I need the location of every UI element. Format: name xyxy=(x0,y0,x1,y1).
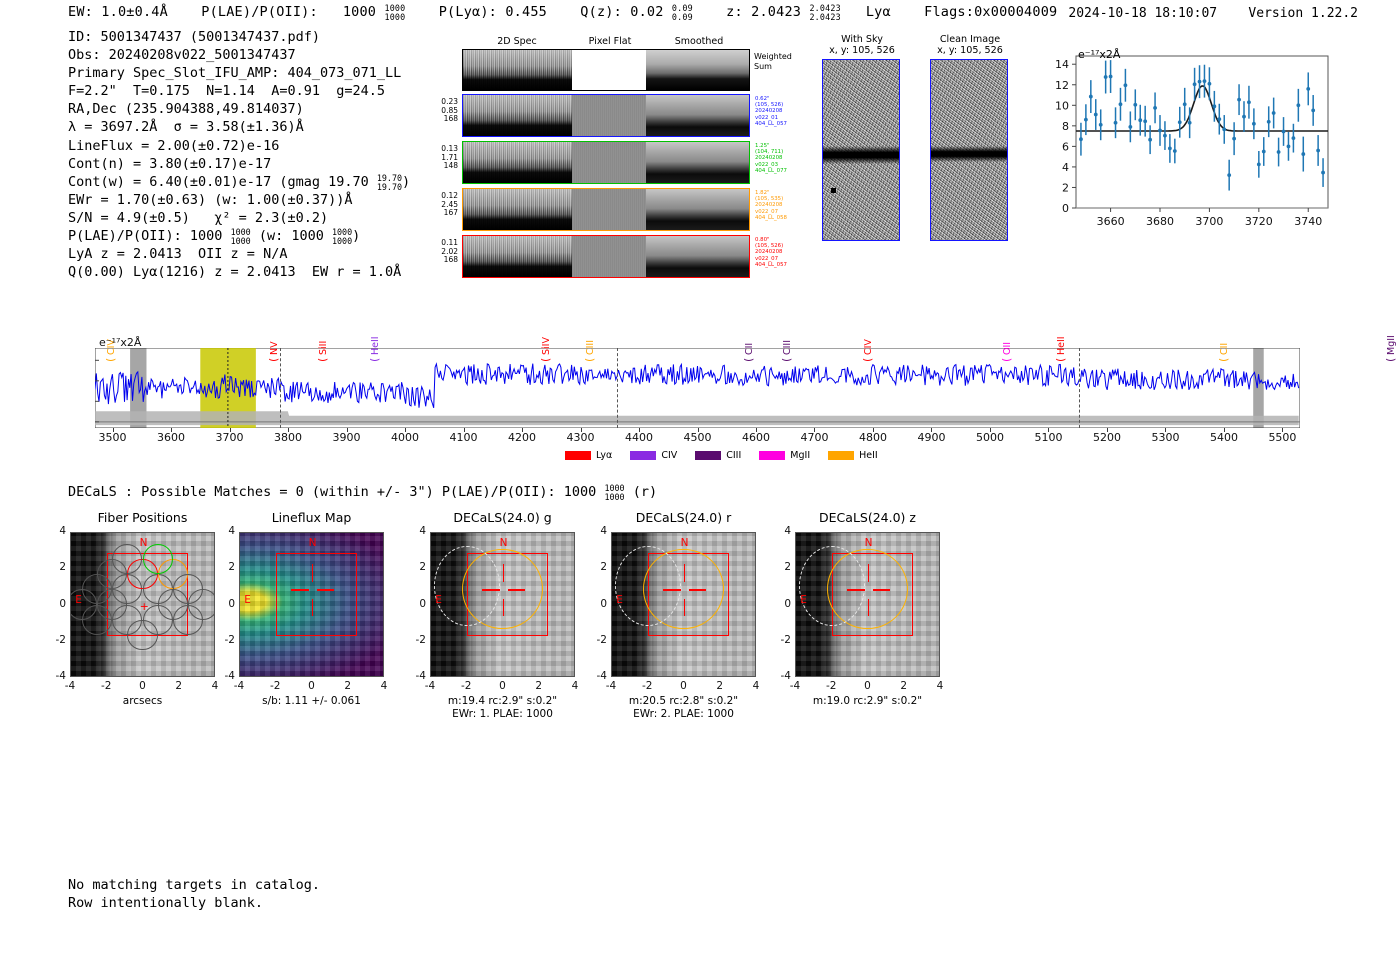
spectrum-x-tick: 5200 xyxy=(1089,431,1125,444)
emission-line-bracket: ( xyxy=(1384,358,1397,362)
cutout-with-sky: With Sky x, y: 105, 526 xyxy=(822,34,902,241)
svg-text:3740: 3740 xyxy=(1294,215,1322,228)
cutout-clean-image: Clean Image x, y: 105, 526 xyxy=(930,34,1010,241)
svg-text:0: 0 xyxy=(1062,202,1069,215)
spectrum-x-tickmark xyxy=(288,428,289,432)
cutout-x-tick: 2 xyxy=(166,680,192,692)
cutout-x-tick: 0 xyxy=(130,680,156,692)
spectrum-x-tick: 3900 xyxy=(329,431,365,444)
legend-swatch xyxy=(828,451,854,460)
cutout-x-tick: 0 xyxy=(490,680,516,692)
fiber-smoothed xyxy=(646,95,749,136)
center-crosshair-v xyxy=(503,564,504,581)
legend-label: CIV xyxy=(661,450,677,461)
spectrum-x-tick: 4900 xyxy=(913,431,949,444)
header-z-type: Lyα xyxy=(866,4,891,20)
spectrum-x-tick: 4300 xyxy=(563,431,599,444)
cutout-title: DECaLS(24.0) r xyxy=(611,510,756,525)
fiber-2dspec xyxy=(463,142,572,183)
header-redshift: z: 2.0423 xyxy=(726,4,801,20)
spectrum-legend: LyαCIVCIIIMgIIHeII xyxy=(565,450,878,461)
compass-north: N xyxy=(865,537,873,549)
spectrum-x-tickmark xyxy=(756,428,757,432)
compass-east: E xyxy=(244,594,251,606)
cutout-title: DECaLS(24.0) g xyxy=(430,510,575,525)
spec2d-title-smoothed: Smoothed xyxy=(648,36,750,47)
fiber-2dspec xyxy=(463,95,572,136)
svg-text:6: 6 xyxy=(1062,140,1069,153)
cutout-y-tick: 0 xyxy=(408,598,426,610)
cutout-y-tick: 0 xyxy=(217,598,235,610)
cutout-y-tick: 0 xyxy=(589,598,607,610)
cutout-x-tick: 4 xyxy=(743,680,769,692)
clean-image-coords: x, y: 105, 526 xyxy=(930,45,1010,56)
spectrum-x-tickmark xyxy=(990,428,991,432)
cutout-y-tick: -4 xyxy=(773,670,791,682)
spectrum-x-tick: 4400 xyxy=(621,431,657,444)
source-ellipse xyxy=(434,546,500,626)
source-ellipse xyxy=(615,546,681,626)
center-crosshair-h2 xyxy=(508,589,525,590)
spec2d-fiber-row xyxy=(462,188,750,231)
header-plya: P(Lyα): 0.455 xyxy=(439,4,547,20)
compass-north: N xyxy=(140,537,148,549)
cutout-y-tick: -4 xyxy=(217,670,235,682)
legend-label: MgII xyxy=(790,450,810,461)
spectrum-x-tick: 4600 xyxy=(738,431,774,444)
center-crosshair-h xyxy=(482,589,499,590)
legend-item: CIV xyxy=(630,450,677,461)
two-d-spec-panel: 2D Spec Pixel Flat Smoothed Weighted Sum… xyxy=(462,36,750,82)
fiber-row-meta: 0.62"(105, 526)20240208v022_01404_LL_057 xyxy=(755,96,815,127)
info-id: ID: 5001347437 (5001347437.pdf) xyxy=(68,28,410,46)
legend-item: Lyα xyxy=(565,450,612,461)
legend-swatch xyxy=(695,451,721,460)
cutout-y-tick: 0 xyxy=(48,598,66,610)
center-crosshair-h2 xyxy=(317,589,334,590)
cutout-y-tick: -2 xyxy=(48,634,66,646)
spectrum-x-tick: 3800 xyxy=(270,431,306,444)
spectrum-x-tickmark xyxy=(405,428,406,432)
cutout-y-tick: -2 xyxy=(773,634,791,646)
source-ellipse xyxy=(799,546,865,626)
legend-label: CIII xyxy=(726,450,741,461)
cutout-y-tick: 4 xyxy=(48,525,66,537)
center-crosshair-v2 xyxy=(868,599,869,616)
info-lya-z: LyA z = 2.0413 OII z = N/A xyxy=(68,245,410,263)
spec2d-weighted-sum-label: Weighted Sum xyxy=(754,52,792,71)
header-timestamp-block: 2024-10-18 18:10:07 Version 1.22.2 xyxy=(1068,6,1358,21)
info-lambda: λ = 3697.2Å σ = 3.58(±1.36)Å xyxy=(68,118,410,136)
cutout-caption: m:20.5 rc:2.8" s:0.2"EWr: 2. PLAE: 1000 xyxy=(611,695,756,721)
svg-text:3680: 3680 xyxy=(1146,215,1174,228)
svg-text:3700: 3700 xyxy=(1195,215,1223,228)
legend-item: HeII xyxy=(828,450,878,461)
cutout-y-tick: -4 xyxy=(408,670,426,682)
info-radec: RA,Dec (235.904388,49.814037) xyxy=(68,100,410,118)
cutout-y-tick: 2 xyxy=(589,561,607,573)
cutout-x-tick: 2 xyxy=(707,680,733,692)
fiber-row-values: 0.122.45167 xyxy=(424,192,458,218)
spectrum-x-tick: 5400 xyxy=(1206,431,1242,444)
cutout-image: NE xyxy=(611,532,756,677)
header-plae-label: P(LAE)/P(OII): xyxy=(201,4,318,20)
clean-image-title: Clean Image xyxy=(930,34,1010,45)
spec2d-summary-strip xyxy=(462,49,750,91)
cutout-x-tick: 0 xyxy=(671,680,697,692)
header-z-fraction: 2.04232.0423 xyxy=(809,4,840,21)
info-plae: P(LAE)/P(OII): 1000 10001000 (w: 1000 10… xyxy=(68,227,410,245)
version-label: Version 1.22.2 xyxy=(1248,6,1358,21)
center-crosshair-h xyxy=(291,589,308,590)
fiber-2dspec xyxy=(463,189,572,230)
cutout-caption-line2: EWr: 2. PLAE: 1000 xyxy=(611,708,756,721)
cutout-y-tick: 2 xyxy=(217,561,235,573)
footer-line-1: No matching targets in catalog. xyxy=(68,876,320,894)
fiber-row-values: 0.112.02168 xyxy=(424,239,458,265)
cutout-image: +NE xyxy=(70,532,215,677)
svg-text:10: 10 xyxy=(1055,99,1069,112)
info-primary-spec: Primary Spec_Slot_IFU_AMP: 404_073_071_L… xyxy=(68,64,410,82)
cutout-x-tick: 0 xyxy=(855,680,881,692)
compass-north: N xyxy=(309,537,317,549)
spectrum-x-tick: 4100 xyxy=(446,431,482,444)
fiber-pixelflat xyxy=(572,189,646,230)
cutout-caption-line1: m:20.5 rc:2.8" s:0.2" xyxy=(611,695,756,708)
spectrum-x-tickmark xyxy=(814,428,815,432)
cutout-caption: m:19.0 rc:2.9" s:0.2" xyxy=(795,695,940,708)
cutout-y-tick: 4 xyxy=(773,525,791,537)
spectrum-x-tick: 4500 xyxy=(680,431,716,444)
center-crosshair-v2 xyxy=(684,599,685,616)
fiber-row-meta: 1.25"(104, 711)20240208v022_03404_LL_077 xyxy=(755,143,815,174)
spectrum-x-tickmark xyxy=(581,428,582,432)
cutout-x-tick: 2 xyxy=(526,680,552,692)
decals-header-suffix: (r) xyxy=(633,484,657,500)
cutout-caption: m:19.4 rc:2.9" s:0.2"EWr: 1. PLAE: 1000 xyxy=(430,695,575,721)
fiber-smoothed xyxy=(646,189,749,230)
spectrum-x-tickmark xyxy=(113,428,114,432)
cutout-x-tick: 4 xyxy=(927,680,953,692)
cutout-y-tick: -2 xyxy=(217,634,235,646)
header-plae-value: 1000 xyxy=(343,4,376,20)
fiber-smoothed xyxy=(646,142,749,183)
decals-header: DECaLS : Possible Matches = 0 (within +/… xyxy=(68,484,657,501)
info-obs: Obs: 20240208v022_5001347437 xyxy=(68,46,410,64)
with-sky-coords: x, y: 105, 526 xyxy=(822,45,902,56)
full-spectrum-svg: 051015 xyxy=(95,348,1300,428)
legend-item: MgII xyxy=(759,450,810,461)
cutout-y-tick: 2 xyxy=(773,561,791,573)
spectrum-x-tickmark xyxy=(171,428,172,432)
spec2d-summary-smoothed xyxy=(646,50,749,90)
compass-east: E xyxy=(616,594,623,606)
cutout-y-tick: -4 xyxy=(48,670,66,682)
cutout-x-tick: -2 xyxy=(453,680,479,692)
header-summary-line: EW: 1.0±0.4Å P(LAE)/P(OII): 1000 1000100… xyxy=(68,4,1057,21)
cutout-title: DECaLS(24.0) z xyxy=(795,510,940,525)
info-lineflux: LineFlux = 2.00(±0.72)e-16 xyxy=(68,137,410,155)
spec2d-fiber-row xyxy=(462,141,750,184)
spectrum-x-tick: 5100 xyxy=(1030,431,1066,444)
info-ewr: EWr = 1.70(±0.63) (w: 1.00(±0.37))Å xyxy=(68,191,410,209)
spectrum-x-tick: 4000 xyxy=(387,431,423,444)
with-sky-title: With Sky xyxy=(822,34,902,45)
cutout-caption: arcsecs xyxy=(70,695,215,708)
legend-swatch xyxy=(759,451,785,460)
compass-east: E xyxy=(75,594,82,606)
source-info-block: ID: 5001347437 (5001347437.pdf) Obs: 202… xyxy=(68,28,410,281)
spectrum-x-tickmark xyxy=(1224,428,1225,432)
cutout-x-tick: 2 xyxy=(891,680,917,692)
spectrum-x-tickmark xyxy=(873,428,874,432)
fiber-circle xyxy=(188,589,215,619)
decals-header-text: DECaLS : Possible Matches = 0 (within +/… xyxy=(68,484,564,500)
spec2d-fiber-row xyxy=(462,235,750,278)
legend-item: CIII xyxy=(695,450,741,461)
cutout-y-tick: 4 xyxy=(217,525,235,537)
spec2d-summary-2dspec xyxy=(463,50,572,90)
cutout-y-tick: 4 xyxy=(589,525,607,537)
center-crosshair-v xyxy=(312,564,313,581)
cutout-x-tick: -2 xyxy=(262,680,288,692)
spectrum-x-tickmark xyxy=(230,428,231,432)
decals-plae-fraction: 10001000 xyxy=(604,484,624,501)
compass-north: N xyxy=(500,537,508,549)
with-sky-image xyxy=(822,59,900,241)
cutout-x-tick: 4 xyxy=(371,680,397,692)
center-marker: + xyxy=(140,600,149,613)
cutout-x-tick: -2 xyxy=(93,680,119,692)
cutout-y-tick: 2 xyxy=(48,561,66,573)
cutout-y-tick: 0 xyxy=(773,598,791,610)
spectrum-x-tickmark xyxy=(639,428,640,432)
decals-plae-value: 1000 xyxy=(564,484,597,500)
spec2d-fiber-row xyxy=(462,94,750,137)
spectrum-x-tick: 4200 xyxy=(504,431,540,444)
spectrum-x-tickmark xyxy=(1107,428,1108,432)
spec2d-title-2dspec: 2D Spec xyxy=(462,36,572,47)
svg-text:12: 12 xyxy=(1055,79,1069,92)
fiber-circle xyxy=(70,589,97,619)
center-crosshair-h2 xyxy=(873,589,890,590)
fiber-smoothed xyxy=(646,236,749,277)
footer-line-2: Row intentionally blank. xyxy=(68,894,320,912)
svg-text:8: 8 xyxy=(1062,120,1069,133)
cutout-x-tick: 0 xyxy=(299,680,325,692)
fiber-2dspec xyxy=(463,236,572,277)
cutout-x-tick: -2 xyxy=(818,680,844,692)
center-crosshair-v xyxy=(868,564,869,581)
cutout-title: Lineflux Map xyxy=(239,510,384,525)
cutout-caption-line2: EWr: 1. PLAE: 1000 xyxy=(430,708,575,721)
cutout-caption-line1: m:19.4 rc:2.9" s:0.2" xyxy=(430,695,575,708)
spectrum-x-tick: 4700 xyxy=(796,431,832,444)
center-crosshair-v2 xyxy=(312,599,313,616)
spec2d-title-pixelflat: Pixel Flat xyxy=(572,36,648,47)
fiber-row-values: 0.230.85168 xyxy=(424,98,458,124)
cutout-panel-row: Fiber Positions+NE-4-2024420-2-4arcsecsL… xyxy=(0,510,1400,750)
legend-swatch xyxy=(630,451,656,460)
cutout-caption-line1: arcsecs xyxy=(70,695,215,708)
spectrum-x-tickmark xyxy=(464,428,465,432)
cutout-caption: s/b: 1.11 +/- 0.061 xyxy=(239,695,384,708)
legend-label: Lyα xyxy=(596,450,612,461)
spectrum-x-tick: 5500 xyxy=(1264,431,1300,444)
cutout-image: NE xyxy=(795,532,940,677)
fiber-row-values: 0.131.71148 xyxy=(424,145,458,171)
cutout-y-tick: -2 xyxy=(589,634,607,646)
fiber-row-meta: 1.82"(105, 535)20240208v022_07404_LL_058 xyxy=(755,190,815,221)
cutout-y-tick: -2 xyxy=(408,634,426,646)
spec2d-summary-pixelflat xyxy=(572,50,646,90)
cutout-image: NE xyxy=(430,532,575,677)
svg-text:2: 2 xyxy=(1062,181,1069,194)
spectrum-x-tick: 3600 xyxy=(153,431,189,444)
header-qz: Q(z): 0.02 xyxy=(580,4,663,20)
cutout-x-tick: 2 xyxy=(335,680,361,692)
spectrum-x-tickmark xyxy=(1048,428,1049,432)
header-ew: EW: 1.0±0.4Å xyxy=(68,4,168,20)
fiber-pixelflat xyxy=(572,142,646,183)
svg-text:3660: 3660 xyxy=(1097,215,1125,228)
spectrum-x-tickmark xyxy=(1165,428,1166,432)
fiber-row-meta: 0.80"(105, 526)20240208v022_07404_LL_057 xyxy=(755,237,815,268)
cutout-image: NE xyxy=(239,532,384,677)
svg-text:14: 14 xyxy=(1055,58,1069,71)
spectrum-x-tickmark xyxy=(931,428,932,432)
header-flags: Flags:0x00004009 xyxy=(924,4,1057,20)
center-crosshair-v2 xyxy=(503,599,504,616)
compass-east: E xyxy=(800,594,807,606)
info-seeing: F=2.2" T=0.175 N=1.14 A=0.91 g=24.5 xyxy=(68,82,410,100)
line-fit-plot: 0246810121436603680370037203740 e⁻¹⁷x2Å xyxy=(1036,46,1336,242)
info-q-line: Q(0.00) Lyα(1216) z = 2.0413 EW r = 1.0Å xyxy=(68,263,410,281)
cutout-caption-line1: s/b: 1.11 +/- 0.061 xyxy=(239,695,384,708)
cutout-x-tick: 4 xyxy=(562,680,588,692)
cutout-y-tick: 2 xyxy=(408,561,426,573)
spectrum-x-tickmark xyxy=(347,428,348,432)
spectrum-x-tick: 3500 xyxy=(95,431,131,444)
compass-east: E xyxy=(435,594,442,606)
line-fit-svg: 0246810121436603680370037203740 xyxy=(1036,46,1336,242)
info-cont-w: Cont(w) = 6.40(±0.01)e-17 (gmag 19.70 19… xyxy=(68,173,410,191)
spectrum-x-tick: 3700 xyxy=(212,431,248,444)
spectrum-x-tick: 5000 xyxy=(972,431,1008,444)
spectrum-x-tickmark xyxy=(522,428,523,432)
center-crosshair-h xyxy=(663,589,680,590)
cutout-y-tick: 4 xyxy=(408,525,426,537)
cutout-x-tick: -2 xyxy=(634,680,660,692)
footer-block: No matching targets in catalog. Row inte… xyxy=(68,876,320,912)
center-crosshair-h2 xyxy=(689,589,706,590)
cutout-red-box xyxy=(276,553,358,636)
emission-line-label: MgII xyxy=(1386,335,1397,355)
full-spectrum-panel: 051015 xyxy=(95,348,1300,428)
fiber-pixelflat xyxy=(572,236,646,277)
legend-swatch xyxy=(565,451,591,460)
compass-north: N xyxy=(681,537,689,549)
info-sn-chi2: S/N = 4.9(±0.5) χ² = 2.3(±0.2) xyxy=(68,209,410,227)
spectrum-x-tick: 5300 xyxy=(1147,431,1183,444)
info-cont-n: Cont(n) = 3.80(±0.17)e-17 xyxy=(68,155,410,173)
header-plae-fraction: 10001000 xyxy=(384,4,405,21)
center-crosshair-h xyxy=(847,589,864,590)
clean-image-pixels xyxy=(930,59,1008,241)
spectrum-x-tick: 4800 xyxy=(855,431,891,444)
svg-text:3720: 3720 xyxy=(1245,215,1273,228)
spectrum-x-tickmark xyxy=(1282,428,1283,432)
timestamp: 2024-10-18 18:10:07 xyxy=(1068,6,1217,21)
fiber-pixelflat xyxy=(572,95,646,136)
fit-plot-units: e⁻¹⁷x2Å xyxy=(1078,48,1120,61)
center-crosshair-v xyxy=(684,564,685,581)
cutout-caption-line1: m:19.0 rc:2.9" s:0.2" xyxy=(795,695,940,708)
spectrum-x-tickmark xyxy=(698,428,699,432)
fiber-circle xyxy=(127,620,157,650)
legend-label: HeII xyxy=(859,450,878,461)
header-qz-fraction: 0.090.09 xyxy=(672,4,693,21)
cutout-title: Fiber Positions xyxy=(70,510,215,525)
cutout-y-tick: -4 xyxy=(589,670,607,682)
svg-text:4: 4 xyxy=(1062,161,1069,174)
